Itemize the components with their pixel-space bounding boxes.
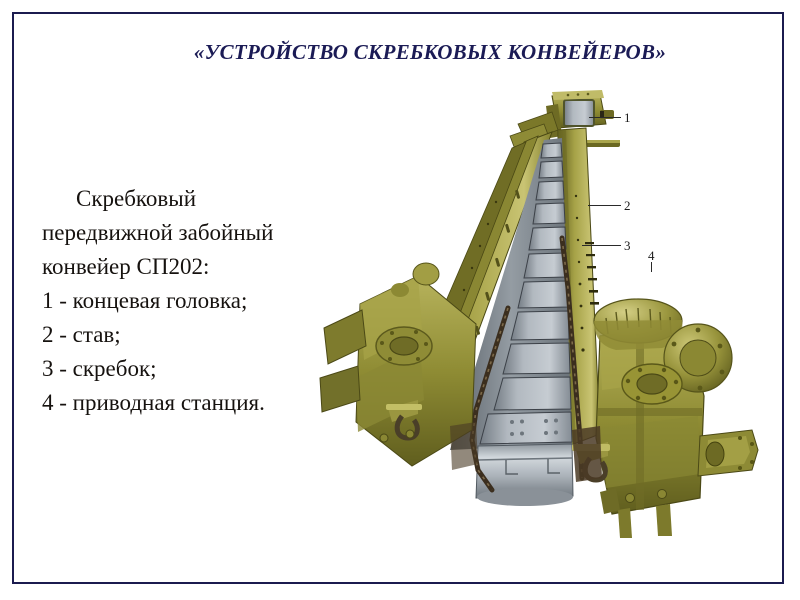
leader-line-2 [588, 205, 621, 206]
trough-far-joint [450, 422, 478, 470]
caption-line-lead: Скребковый [42, 182, 342, 216]
leader-line-4 [651, 262, 652, 272]
caption-line-3: конвейер СП202: [42, 250, 342, 284]
caption-block: Скребковый передвижной забойный конвейер… [42, 182, 342, 420]
conveyor-illustration [300, 78, 760, 538]
page-title: «УСТРОЙСТВО СКРЕБКОВЫХ КОНВЕЙЕРОВ» [120, 40, 740, 65]
drive-station-assembly [572, 299, 758, 538]
callout-label-2: 2 [624, 199, 631, 212]
leader-line-3 [582, 245, 621, 246]
callout-label-4: 4 [648, 249, 655, 262]
callout-label-1: 1 [624, 111, 631, 124]
caption-line-2: передвижной забойный [42, 216, 342, 250]
legend-item-1: 1 - концевая головка; [42, 284, 342, 318]
legend-item-2: 2 - став; [42, 318, 342, 352]
legend-item-3: 3 - скребок; [42, 352, 342, 386]
trough-drive-joint [572, 426, 602, 482]
slide-canvas: «УСТРОЙСТВО СКРЕБКОВЫХ КОНВЕЙЕРОВ» Скреб… [0, 0, 800, 600]
legend-item-4: 4 - приводная станция. [42, 386, 342, 420]
callout-label-3: 3 [624, 239, 631, 252]
conveyor-diagram-svg [300, 78, 760, 538]
leader-line-1 [589, 117, 621, 118]
